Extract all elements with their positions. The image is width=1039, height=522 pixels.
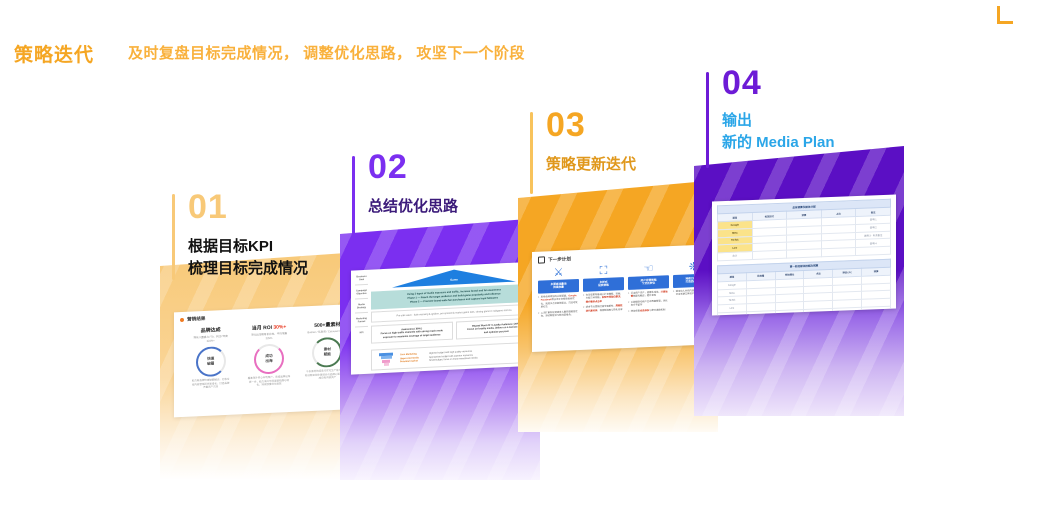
card-number-02: 02 [352,150,458,184]
card-line-2: 新的 Media Plan [722,132,835,154]
media-plan-slide[interactable]: 总体预算及媒体分配 渠道 投放形式 预算 占比 备注 Google说明 1 Me… [712,194,896,315]
step-card-02[interactable]: 02 总结优化思路 Business Goal Campaign Objecti… [340,150,540,440]
card-label-04: 04 输出 新的 Media Plan [706,66,835,154]
step-card-04[interactable]: 04 输出 新的 Media Plan 总体预算及媒体分配 渠道 投放形式 预算… [694,66,904,386]
strategy-col: Awareness ( 80% ) Focus on high traffic … [371,321,453,344]
accent-bar [706,72,709,168]
accent-bar [352,156,355,234]
card-line-1: 策略更新迭代 [546,154,636,176]
bullet-icon [180,318,184,322]
funnel-icon [375,352,397,367]
next-step-plan-slide[interactable]: 下一步计划 ⚔ 多渠道流量池 持续放量 1后续会持续加码头部渠道，Google、… [532,244,720,352]
card-number-04: 04 [706,66,835,100]
funnel-block: Core MarketingHighest budget with high q… [371,341,537,371]
slide-canvas: 策略迭代 及时复盘目标完成情况， 调整优化思路， 攻坚下一个阶段 01 根据目标… [0,0,1039,522]
strategy-summary-slide[interactable]: Business Goal Campaign Objective Media S… [351,261,541,374]
card-line-1: 根据目标KPI [188,236,308,258]
page-subtitle: 及时复盘目标完成情况， 调整优化思路， 攻坚下一个阶段 [128,42,525,63]
accent-bar [172,194,175,280]
phase1-table: 第一阶段媒体排期及预算 渠道 投放量 预估曝光 点击 预估CPC 预算 Goog… [717,259,891,316]
card-line-2: 梳理目标完成情况 [188,258,308,280]
result-column: 品牌达成 增长八圈盘占770，同比7年度 222%+ 快速 破圈 助力新品牌快速… [184,325,237,390]
budget-table: 总体预算及媒体分配 渠道 投放形式 预算 占比 备注 Google说明 1 Me… [717,199,891,262]
marketing-results-slide[interactable]: 营销结果 品牌达成 增长八圈盘占770，同比7年度 222%+ 快速 破圈 助力… [174,304,364,418]
slide2-side-labels: Business Goal Campaign Objective Media S… [355,274,368,375]
card-number-03: 03 [530,108,636,142]
card-label-02: 02 总结优化思路 [352,150,458,218]
plan-column: ☜ 用户运营策略 下沉及转化 1沉淀用户资产，搭建私域池，分层运营精细化触达，提… [628,262,669,318]
accent-bar [530,112,533,194]
card-number-01: 01 [172,190,308,224]
card-line-1: 输出 [722,110,835,132]
document-icon [538,256,545,263]
step-card-01[interactable]: 01 根据目标KPI 梳理目标完成情况 营销结果 品牌达成 增长八圈盘占770，… [160,190,360,480]
plan-column: ⛶ 多样式 投放策略 1在现有素材基础上扩充横版、竖版、方版三种规格，匹配不同版… [583,264,624,320]
donut-chart: 素材 赋能 [312,337,342,368]
card-label-03: 03 策略更新迭代 [530,108,636,176]
page-title: 策略迭代 [14,40,94,67]
card-label-01: 01 根据目标KPI 梳理目标完成情况 [172,190,308,280]
step-card-03[interactable]: 03 策略更新迭代 下一步计划 ⚔ 多渠道流量池 持续放量 1后续会持续加码头部… [518,108,718,408]
plan-column: ⚔ 多渠道流量池 持续放量 1后续会持续加码头部渠道，Google、Facebo… [538,266,579,322]
result-column: 当月 ROI 30%+ 平均比同期增长比较，平均增量 225% 成功 出海 覆盖… [242,323,295,388]
donut-chart: 快速 破圈 [196,346,226,377]
corner-bracket-icon [995,6,1013,24]
card-line-1: 总结优化思路 [368,196,458,218]
media-plan-tables: 总体预算及媒体分配 渠道 投放形式 预算 占比 备注 Google说明 1 Me… [712,194,896,315]
donut-chart: 成功 出海 [254,343,284,374]
